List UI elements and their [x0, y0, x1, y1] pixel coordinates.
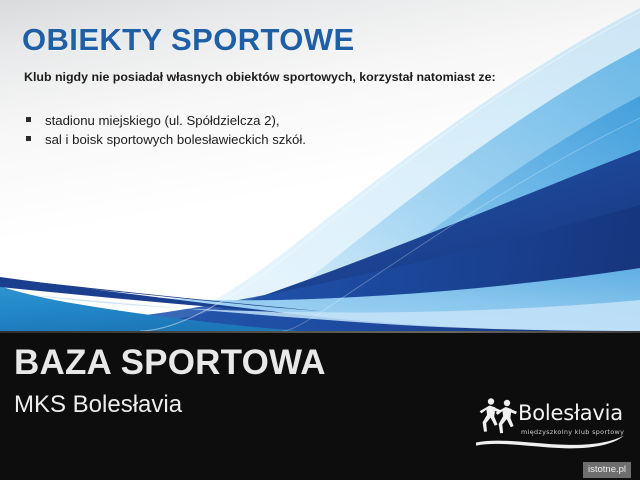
- page-title: OBIEKTY SPORTOWE: [22, 22, 355, 58]
- footer-divider: [0, 331, 640, 333]
- list-item: stadionu miejskiego (ul. Spółdzielcza 2)…: [26, 111, 306, 130]
- slide-content-panel: OBIEKTY SPORTOWE Klub nigdy nie posiadał…: [0, 0, 640, 331]
- logo-swoosh-icon: [476, 436, 624, 449]
- presentation-slide: OBIEKTY SPORTOWE Klub nigdy nie posiadał…: [0, 0, 640, 480]
- footer-subtitle: MKS Bolesłavia: [14, 391, 182, 419]
- square-bullet-icon: [26, 117, 31, 122]
- watermark-label: istotne.pl: [583, 462, 631, 478]
- logo-wordmark: Bolesłavia: [518, 401, 623, 425]
- list-item-label: stadionu miejskiego (ul. Spółdzielcza 2)…: [45, 111, 280, 130]
- slide-lead-text: Klub nigdy nie posiadał własnych obiektó…: [24, 70, 496, 84]
- square-bullet-icon: [26, 136, 31, 141]
- slide-bullet-list: stadionu miejskiego (ul. Spółdzielcza 2)…: [26, 111, 306, 149]
- list-item: sal i boisk sportowych bolesławieckich s…: [26, 130, 306, 149]
- running-figures-icon: [480, 398, 517, 433]
- logo-tagline: międzyszkolny klub sportowy: [521, 428, 624, 436]
- footer-title: BAZA SPORTOWA: [14, 343, 326, 383]
- list-item-label: sal i boisk sportowych bolesławieckich s…: [45, 130, 306, 149]
